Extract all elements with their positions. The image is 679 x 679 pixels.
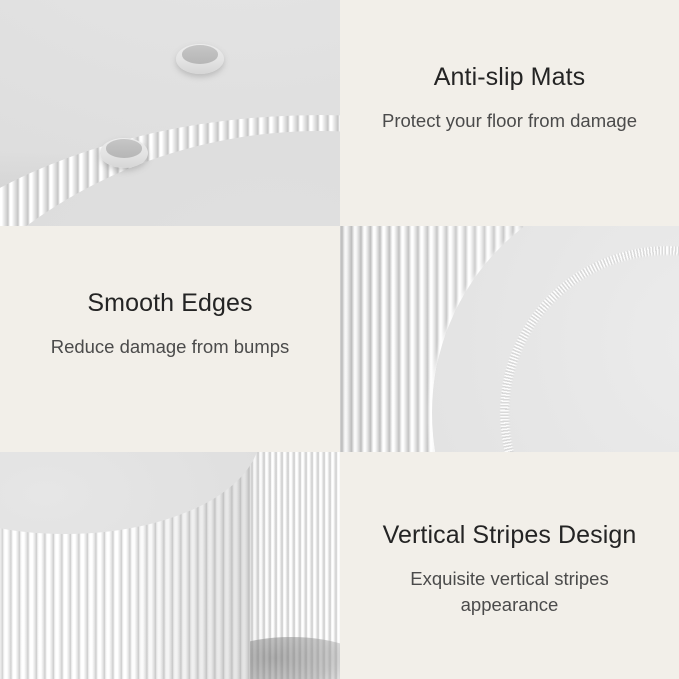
pad-top-face bbox=[106, 139, 142, 158]
panel-subtitle: Protect your floor from damage bbox=[382, 108, 637, 134]
feature-grid: Anti-slip Mats Protect your floor from d… bbox=[0, 0, 679, 679]
feature-panel-anti-slip: Anti-slip Mats Protect your floor from d… bbox=[340, 0, 679, 226]
panel-subtitle-line1: Exquisite vertical stripes bbox=[410, 568, 608, 589]
image-fluted-table-top-view bbox=[0, 0, 340, 226]
image-two-fluted-cylinders bbox=[0, 452, 340, 679]
image-fluted-column-and-round-top bbox=[340, 226, 679, 452]
panel-subtitle: Reduce damage from bumps bbox=[51, 334, 290, 360]
panel-title: Anti-slip Mats bbox=[434, 62, 585, 92]
panel-title: Smooth Edges bbox=[87, 288, 252, 318]
pad-top-face bbox=[182, 45, 218, 64]
anti-slip-pad bbox=[176, 44, 224, 74]
panel-title: Vertical Stripes Design bbox=[383, 520, 637, 550]
panel-subtitle-line2: appearance bbox=[461, 594, 559, 615]
panel-subtitle: Exquisite vertical stripes appearance bbox=[410, 566, 608, 617]
anti-slip-pad bbox=[100, 138, 148, 168]
feature-panel-smooth-edges: Smooth Edges Reduce damage from bumps bbox=[0, 226, 340, 452]
feature-panel-vertical-stripes: Vertical Stripes Design Exquisite vertic… bbox=[340, 452, 679, 679]
